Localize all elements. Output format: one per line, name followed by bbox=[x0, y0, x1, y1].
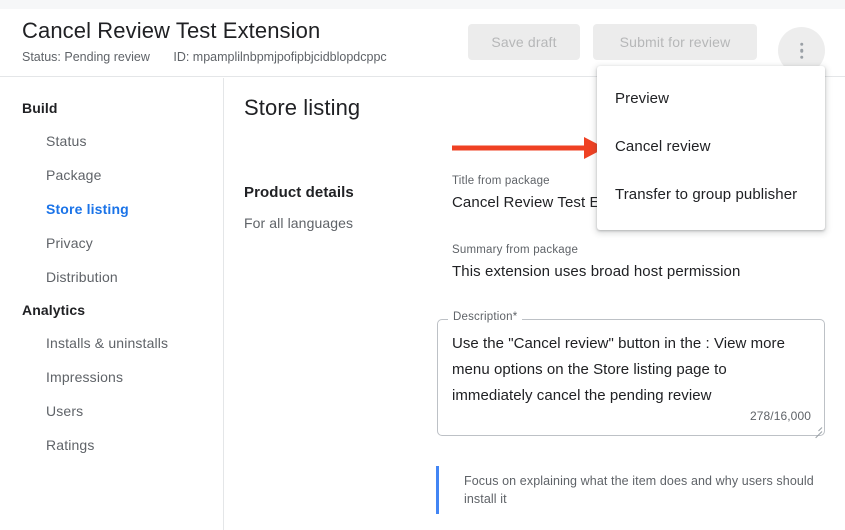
sidebar-item-users[interactable]: Users bbox=[0, 394, 223, 428]
menu-item-transfer-to-group-publisher[interactable]: Transfer to group publisher bbox=[597, 171, 825, 219]
sidebar-item-impressions[interactable]: Impressions bbox=[0, 360, 223, 394]
description-field[interactable]: Description* 278/16,000 bbox=[437, 319, 825, 436]
sidebar-item-package[interactable]: Package bbox=[0, 158, 223, 192]
extension-id-text: ID: mpamplilnbpmjpofipbjcidblopdcppc bbox=[173, 50, 386, 64]
page-title-store-listing: Store listing bbox=[244, 95, 360, 121]
sidebar-item-store-listing[interactable]: Store listing bbox=[0, 192, 223, 226]
description-character-counter: 278/16,000 bbox=[750, 409, 811, 423]
field-label-summary: Summary from package bbox=[452, 244, 740, 256]
hint-text: Focus on explaining what the item does a… bbox=[464, 472, 826, 508]
more-vertical-icon bbox=[800, 42, 804, 59]
nav-group-analytics: Analytics Installs & uninstalls Impressi… bbox=[0, 294, 223, 462]
header-meta: Status: Pending review ID: mpamplilnbpmj… bbox=[22, 50, 387, 64]
status-text: Status: Pending review bbox=[22, 50, 150, 64]
page-title-extension-name: Cancel Review Test Extension bbox=[22, 18, 320, 44]
description-label: Description* bbox=[448, 311, 522, 323]
sidebar-item-ratings[interactable]: Ratings bbox=[0, 428, 223, 462]
sidebar-nav: Build Status Package Store listing Priva… bbox=[0, 78, 224, 530]
section-heading-product-details: Product details bbox=[244, 184, 354, 201]
sidebar-item-privacy[interactable]: Privacy bbox=[0, 226, 223, 260]
description-hint-callout: Focus on explaining what the item does a… bbox=[436, 466, 826, 514]
submit-for-review-button[interactable]: Submit for review bbox=[593, 24, 757, 60]
menu-item-preview[interactable]: Preview bbox=[597, 75, 825, 123]
sidebar-item-status[interactable]: Status bbox=[0, 124, 223, 158]
extension-dashboard: Cancel Review Test Extension Status: Pen… bbox=[0, 0, 845, 530]
description-input[interactable] bbox=[452, 331, 802, 409]
field-summary-from-package: Summary from package This extension uses… bbox=[452, 244, 740, 280]
resize-handle-icon[interactable] bbox=[812, 424, 822, 434]
field-value-summary: This extension uses broad host permissio… bbox=[452, 263, 740, 280]
section-subtext-languages: For all languages bbox=[244, 215, 353, 231]
save-draft-button[interactable]: Save draft bbox=[468, 24, 580, 60]
menu-item-cancel-review[interactable]: Cancel review bbox=[597, 123, 825, 171]
sidebar-item-installs-uninstalls[interactable]: Installs & uninstalls bbox=[0, 326, 223, 360]
nav-group-label-analytics: Analytics bbox=[0, 294, 223, 326]
nav-group-build: Build Status Package Store listing Priva… bbox=[0, 92, 223, 294]
sidebar-item-distribution[interactable]: Distribution bbox=[0, 260, 223, 294]
nav-group-label-build: Build bbox=[0, 92, 223, 124]
more-options-menu: Preview Cancel review Transfer to group … bbox=[597, 66, 825, 230]
browser-chrome-strip bbox=[0, 0, 845, 9]
